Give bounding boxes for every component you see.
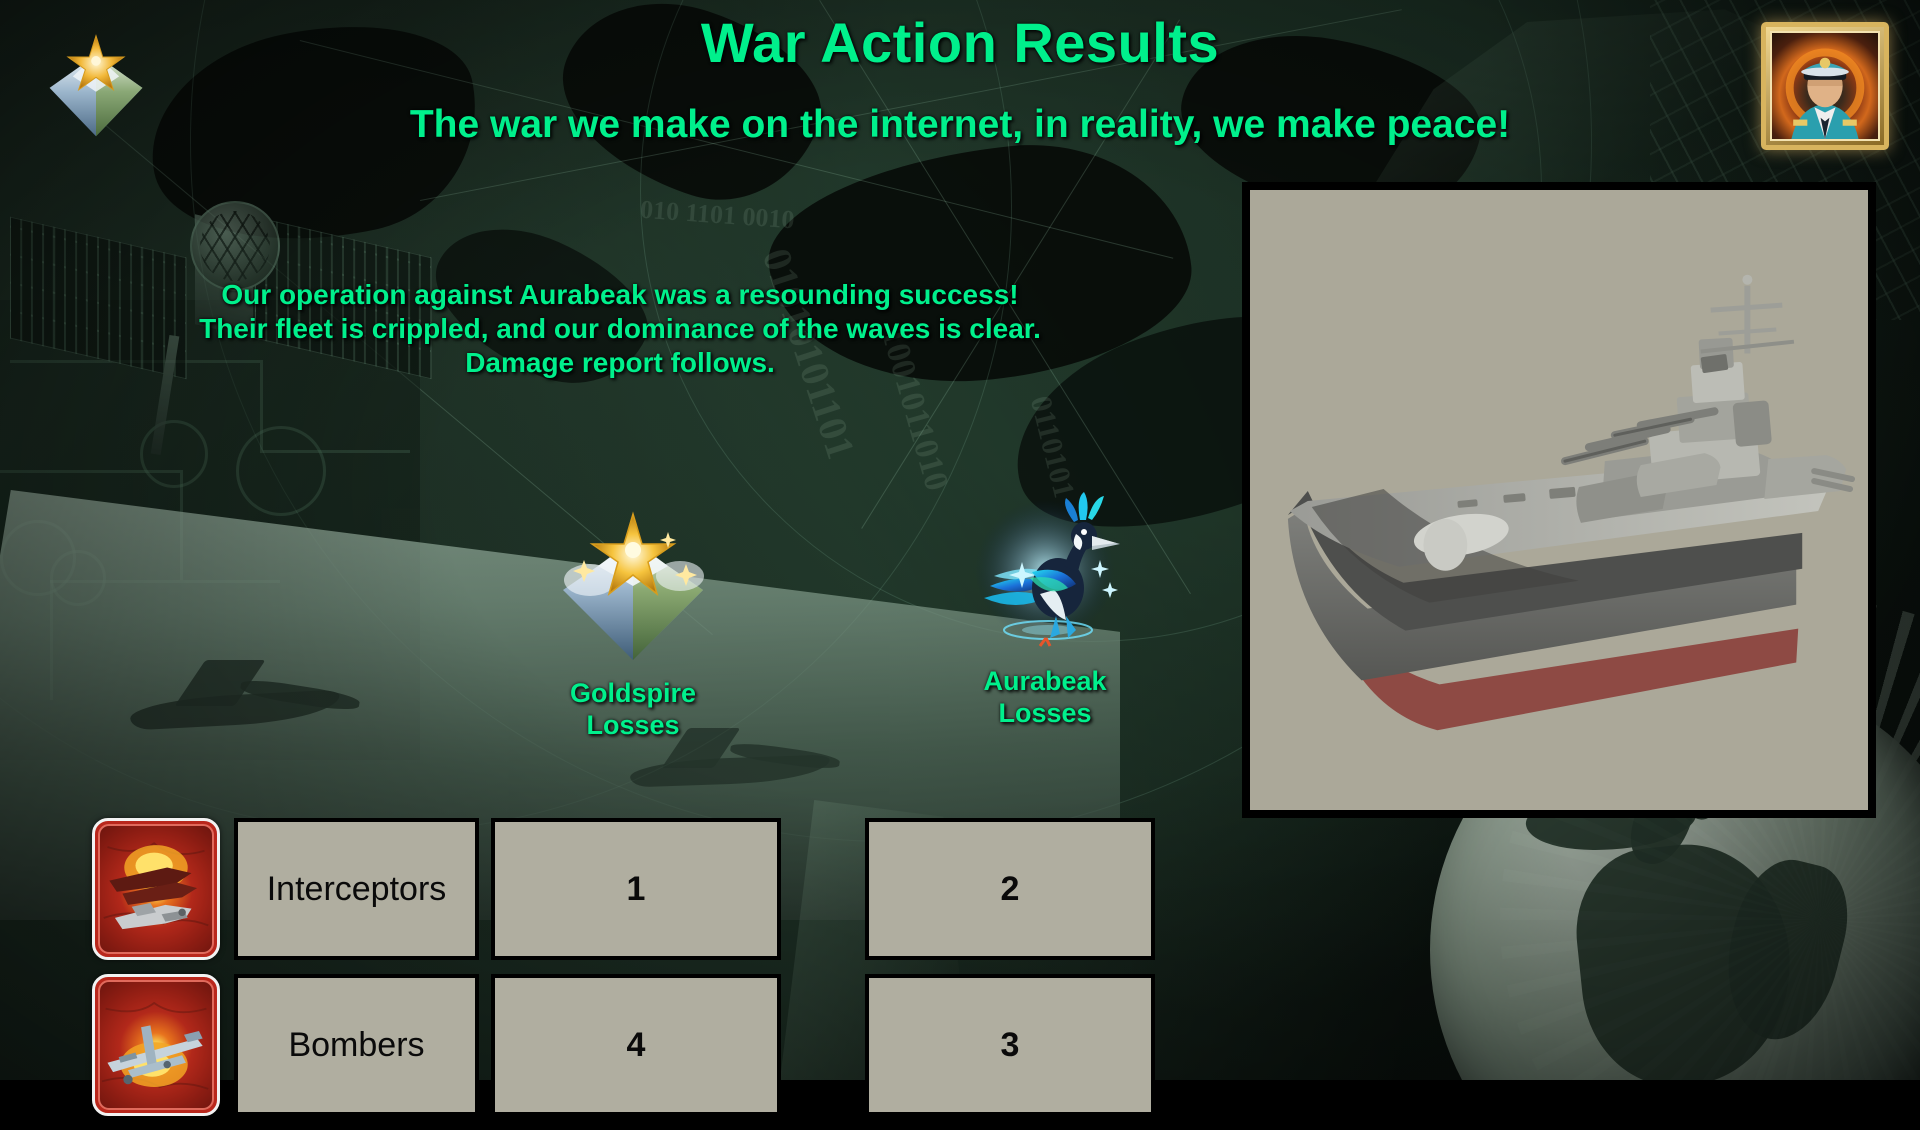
enemy-losses-cell: 2 [865,818,1155,960]
report-line-3: Damage report follows. [0,346,1240,380]
battleship-3d-render [1250,190,1868,808]
faction-own-label: Goldspire Losses [518,678,748,741]
faction-header-own: Goldspire Losses [518,502,748,741]
page-subtitle: The war we make on the internet, in real… [0,103,1920,147]
faction-enemy-name: Aurabeak [930,666,1160,698]
bomber-plane-icon[interactable] [92,974,220,1116]
interceptor-jet-icon[interactable] [92,818,220,960]
blue-bird-icon [960,490,1130,660]
faction-own-name: Goldspire [518,678,748,710]
table-row: Interceptors 1 2 [92,818,1155,960]
page-title: War Action Results [0,10,1920,75]
report-line-2: Their fleet is crippled, and our dominan… [0,312,1240,346]
faction-own-losses-word: Losses [518,710,748,742]
own-losses-cell: 4 [491,974,781,1116]
battleship-panel [1242,182,1876,818]
mountain-star-icon [548,502,718,672]
unit-name-cell: Interceptors [234,818,479,960]
unit-name-cell: Bombers [234,974,479,1116]
enemy-losses-cell: 3 [865,974,1155,1116]
faction-header-enemy: Aurabeak Losses [930,490,1160,729]
battle-report-message: Our operation against Aurabeak was a res… [0,278,1240,380]
table-row: Bombers 4 3 [92,974,1155,1116]
losses-table: Interceptors 1 2 [92,818,1155,1130]
report-line-1: Our operation against Aurabeak was a res… [0,278,1240,312]
own-losses-cell: 1 [491,818,781,960]
faction-enemy-label: Aurabeak Losses [930,666,1160,729]
faction-enemy-losses-word: Losses [930,698,1160,730]
